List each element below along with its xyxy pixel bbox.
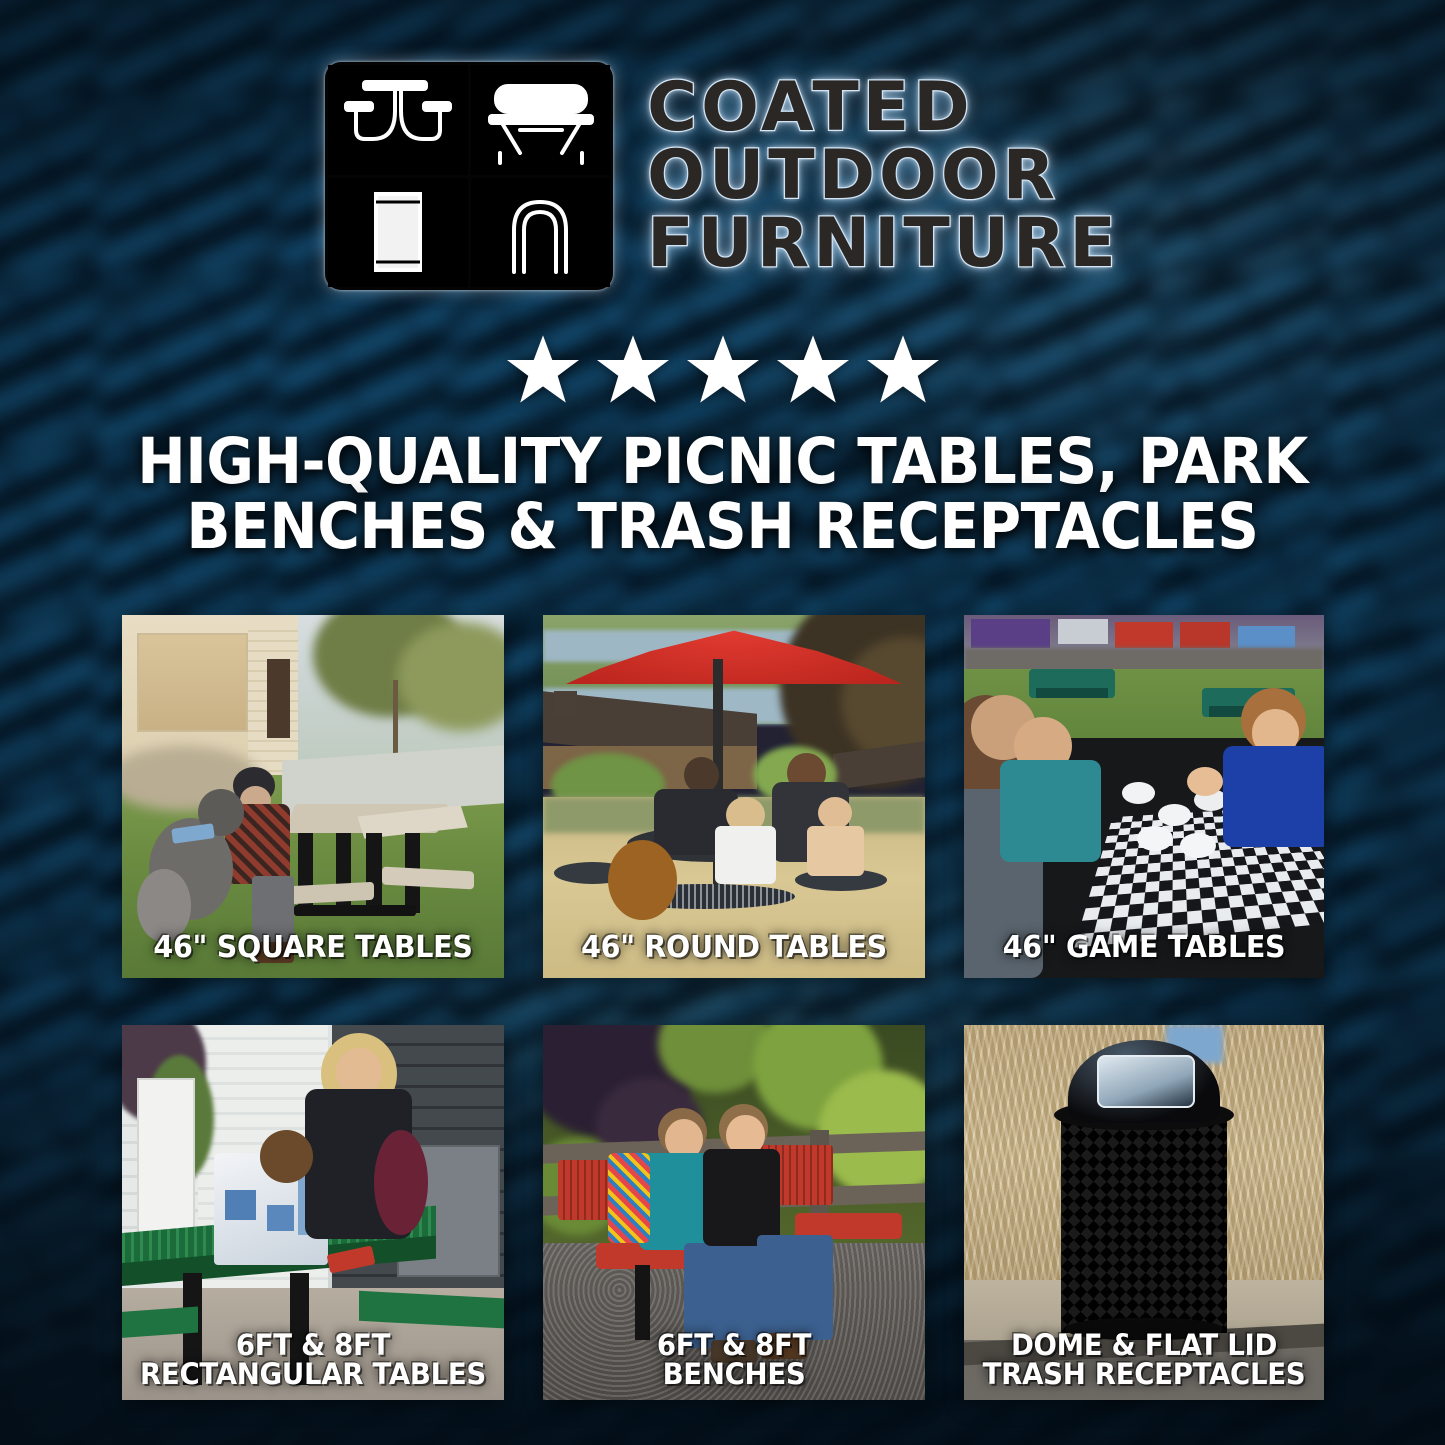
tile-rectangular-tables[interactable]: 6FT & 8FT RECTANGULAR TABLES — [122, 1025, 504, 1400]
tile-caption: 46" SQUARE TABLES — [137, 933, 489, 964]
promo-graphic: COATED OUTDOOR FURNITURE HIGH-QUALITY PI… — [0, 0, 1445, 1445]
trash-receptacle-icon — [328, 178, 468, 288]
star-icon — [776, 333, 850, 405]
tile-caption-line-2: TRASH RECEPTACLES — [979, 1360, 1310, 1390]
brand-line-1: COATED — [647, 75, 1120, 141]
tile-caption: 46" GAME TABLES — [979, 933, 1310, 964]
tile-caption-line-2: BENCHES — [558, 1360, 910, 1390]
tile-game-tables[interactable]: 46" GAME TABLES — [964, 615, 1324, 978]
tile-caption: DOME & FLAT LID TRASH RECEPTACLES — [979, 1331, 1310, 1390]
star-icon — [686, 333, 760, 405]
star-icon — [866, 333, 940, 405]
photo-round-tables — [543, 615, 925, 978]
headline-line-1: HIGH-QUALITY PICNIC TABLES, PARK — [137, 425, 1308, 498]
tile-benches[interactable]: 6FT & 8FT BENCHES — [543, 1025, 925, 1400]
tile-trash-receptacles[interactable]: DOME & FLAT LID TRASH RECEPTACLES — [964, 1025, 1324, 1400]
star-icon — [596, 333, 670, 405]
tile-caption: 46" ROUND TABLES — [558, 933, 910, 964]
tile-caption-line-1: 46" ROUND TABLES — [581, 930, 887, 965]
tile-caption: 6FT & 8FT RECTANGULAR TABLES — [137, 1331, 489, 1390]
tile-caption-line-1: 46" SQUARE TABLES — [153, 930, 472, 965]
brand-line-3: FURNITURE — [647, 211, 1120, 277]
bench-side-icon — [471, 65, 611, 175]
tile-caption: 6FT & 8FT BENCHES — [558, 1331, 910, 1390]
tile-caption-line-1: 6FT & 8FT — [236, 1328, 390, 1362]
logo-icon-grid — [325, 62, 613, 290]
star-rating — [0, 333, 1445, 405]
page-headline: HIGH-QUALITY PICNIC TABLES, PARK BENCHES… — [122, 430, 1323, 560]
tile-caption-line-1: 6FT & 8FT — [657, 1328, 811, 1362]
brand-wordmark: COATED OUTDOOR FURNITURE — [647, 75, 1120, 277]
brand-line-2: OUTDOOR — [647, 143, 1120, 209]
tile-caption-line-1: 46" GAME TABLES — [1003, 930, 1286, 965]
picnic-table-frame-icon — [328, 65, 468, 175]
tile-square-tables[interactable]: 46" SQUARE TABLES — [122, 615, 504, 978]
tile-caption-line-2: RECTANGULAR TABLES — [137, 1360, 489, 1390]
headline-line-2: BENCHES & TRASH RECEPTACLES — [122, 495, 1323, 560]
star-icon — [506, 333, 580, 405]
photo-square-tables — [122, 615, 504, 978]
tile-caption-line-1: DOME & FLAT LID — [1011, 1328, 1277, 1362]
bike-rack-arch-icon — [471, 178, 611, 288]
tile-round-tables[interactable]: 46" ROUND TABLES — [543, 615, 925, 978]
product-category-grid: 46" SQUARE TABLES — [122, 615, 1323, 1400]
photo-game-tables — [964, 615, 1324, 978]
brand-logo: COATED OUTDOOR FURNITURE — [0, 62, 1445, 290]
